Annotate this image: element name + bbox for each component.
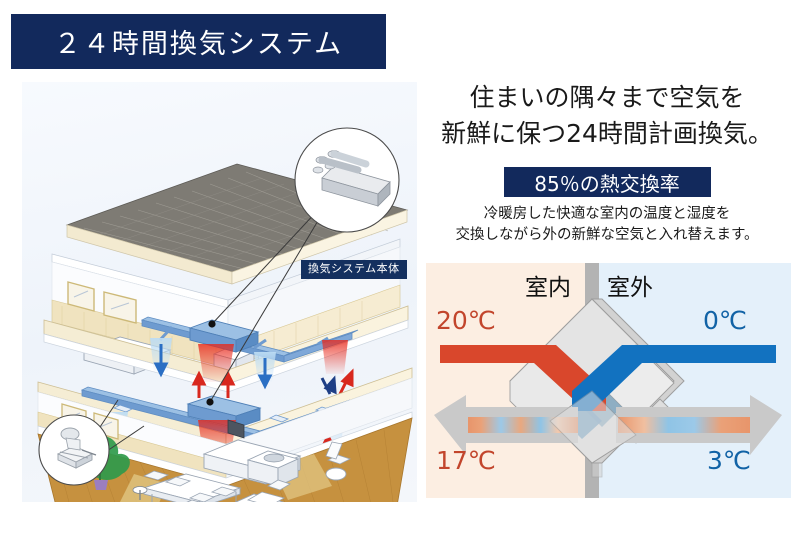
- headline-line-2: 新鮮に保つ24時間計画換気。: [424, 116, 790, 152]
- house-cutaway-diagram: [22, 82, 417, 502]
- heat-exchange-diagram: 室内 室外 20℃ 0℃ 17℃ 3℃: [426, 263, 791, 498]
- sub-description: 冷暖房した快適な室内の温度と湿度を 交換しながら外の新鮮な空気と入れ替えます。: [424, 204, 790, 246]
- headline: 住まいの隅々まで空気を 新鮮に保つ24時間計画換気。: [424, 80, 790, 151]
- temp-indoor-exhaust-in: 20℃: [436, 306, 496, 335]
- callout-label-ventilation-unit: 換気システム本体: [301, 260, 407, 279]
- sub-description-line-2: 交換しながら外の新鮮な空気と入れ替えます。: [424, 225, 790, 246]
- callout-ventilation-unit: [295, 128, 399, 232]
- heat-exchange-rate-badge: 85％の熱交換率: [504, 167, 711, 197]
- temp-outdoor-intake-in: 0℃: [703, 306, 747, 335]
- callout-air-supply-vent: [39, 415, 109, 485]
- temp-outdoor-exhaust-out: 3℃: [707, 446, 751, 475]
- indoor-label: 室内: [525, 268, 571, 302]
- heat-exchange-rate-label: 85％の熱交換率: [534, 168, 679, 197]
- sub-description-line-1: 冷暖房した快適な室内の温度と湿度を: [424, 204, 790, 225]
- outdoor-label: 室外: [607, 268, 653, 302]
- house-illustration-panel: 換気システム本体 給気口: [22, 82, 417, 502]
- temp-indoor-supply-out: 17℃: [436, 446, 496, 475]
- headline-line-1: 住まいの隅々まで空気を: [424, 80, 790, 116]
- page-title: ２４時間換気システム: [54, 22, 343, 61]
- page-title-bar: ２４時間換気システム: [11, 14, 386, 69]
- right-content-column: 住まいの隅々まで空気を 新鮮に保つ24時間計画換気。 85％の熱交換率 冷暖房し…: [424, 80, 790, 246]
